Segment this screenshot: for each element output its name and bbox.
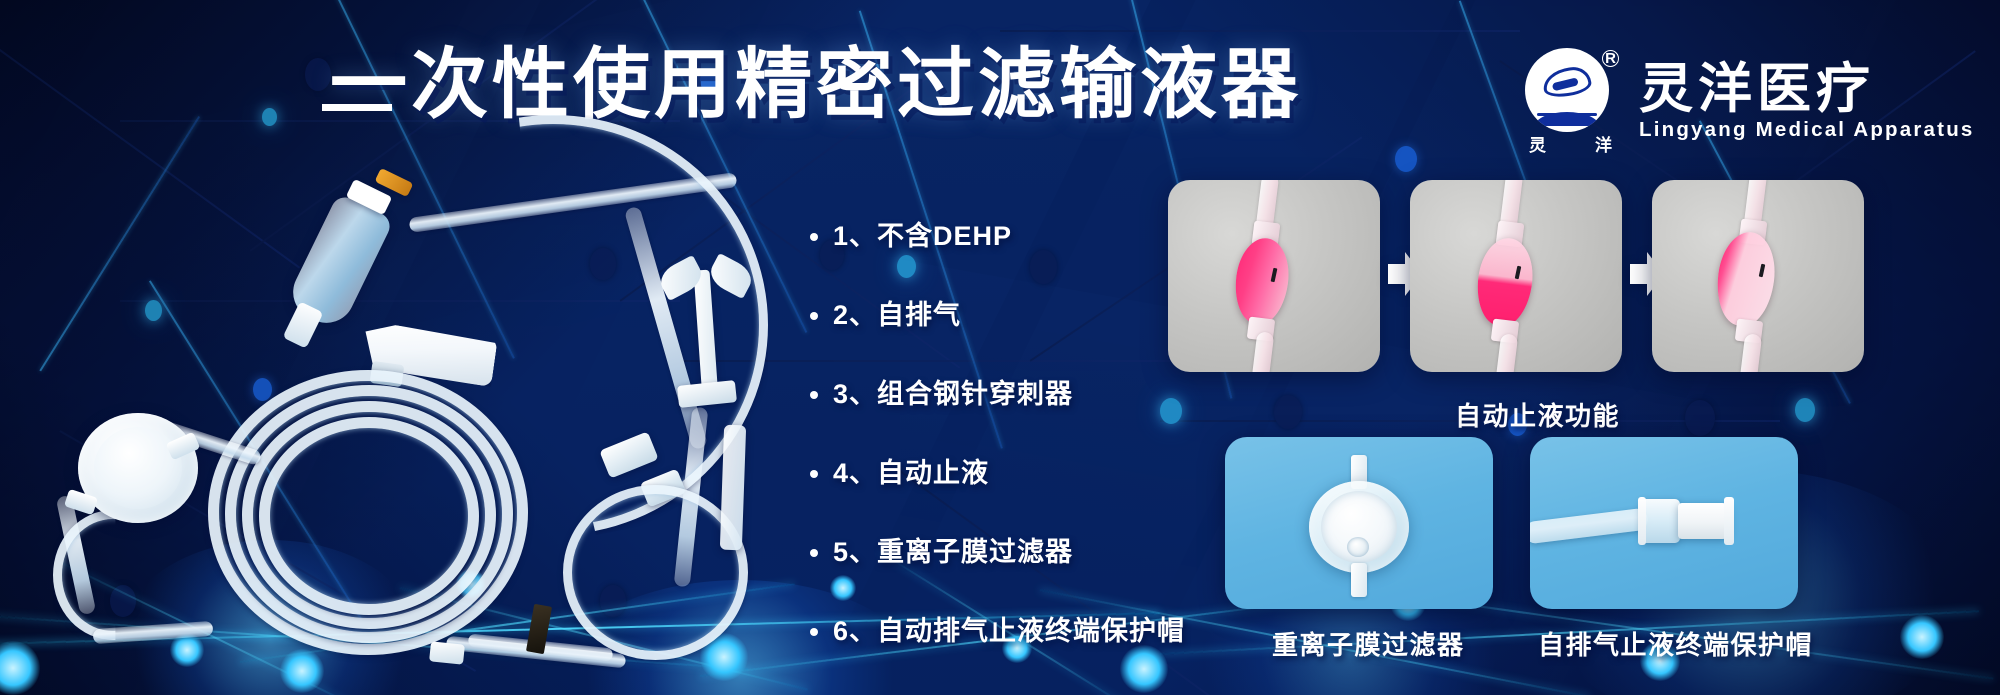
sequence-card-3 <box>1652 180 1864 372</box>
logo-subtext: 灵 洋 <box>1525 131 1617 156</box>
connector-tube <box>1530 508 1649 545</box>
terminal-protective-cap <box>720 425 746 551</box>
product-card-cap-caption: 自排气止液终端保护帽 <box>1538 625 1813 662</box>
cap-flange <box>1724 497 1734 545</box>
logo-wave-icon <box>1537 113 1597 116</box>
company-name-en: Lingyang Medical Apparatus <box>1639 120 1975 141</box>
sequence-caption: 自动止液功能 <box>1455 396 1620 433</box>
feature-item-3: 3、组合钢针穿刺器 <box>833 381 1185 408</box>
protective-cap <box>1678 503 1730 539</box>
sequence-card-1 <box>1168 180 1380 372</box>
logo-wordmark: 灵洋医疗 Lingyang Medical Apparatus <box>1639 62 1975 141</box>
feature-item-2: 2、自排气 <box>833 302 1185 329</box>
product-card-filter <box>1225 437 1493 609</box>
feature-item-5: 5、重离子膜过滤器 <box>833 539 1185 566</box>
page-title: 一次性使用精密过滤输液器 <box>330 47 1302 124</box>
filter-bottom-port <box>1351 563 1367 597</box>
auto-stop-chamber <box>1712 229 1779 329</box>
logo-subtext-left: 灵 <box>1529 131 1547 156</box>
logo-bird-icon <box>1541 65 1592 99</box>
filter-hub <box>1347 537 1369 557</box>
company-name-cn: 灵洋医疗 <box>1639 62 1975 116</box>
tube-end-connector <box>429 641 465 664</box>
logo-emblem: R 灵 洋 <box>1525 48 1617 154</box>
logo-circle-icon <box>1525 48 1609 132</box>
coiled-tubing <box>259 417 479 615</box>
sequence-card-2 <box>1410 180 1622 372</box>
filter-inner <box>94 427 182 509</box>
luer-flange <box>1638 497 1646 545</box>
feature-item-4: 4、自动止液 <box>833 460 1185 487</box>
product-card-cap <box>1530 437 1798 609</box>
logo-subtext-right: 洋 <box>1595 131 1613 156</box>
registered-trademark-icon: R <box>1602 50 1619 67</box>
brand-logo: R 灵 洋 灵洋医疗 Lingyang Medical Apparatus <box>1525 48 1975 154</box>
banner-root: 一次性使用精密过滤输液器 R 灵 洋 灵洋医疗 Lingyang Medical… <box>0 0 2000 695</box>
luer-lock <box>1640 499 1680 543</box>
feature-list: 1、不含DEHP 2、自排气 3、组合钢针穿刺器 4、自动止液 5、重离子膜过滤… <box>833 223 1185 645</box>
auto-stop-chamber <box>1473 235 1537 329</box>
auto-stop-chamber <box>1231 235 1293 327</box>
feature-item-6: 6、自动排气止液终端保护帽 <box>833 618 1185 645</box>
hero-product-image <box>58 175 778 675</box>
feature-item-1: 1、不含DEHP <box>833 223 1185 250</box>
product-card-filter-caption: 重离子膜过滤器 <box>1272 625 1465 662</box>
